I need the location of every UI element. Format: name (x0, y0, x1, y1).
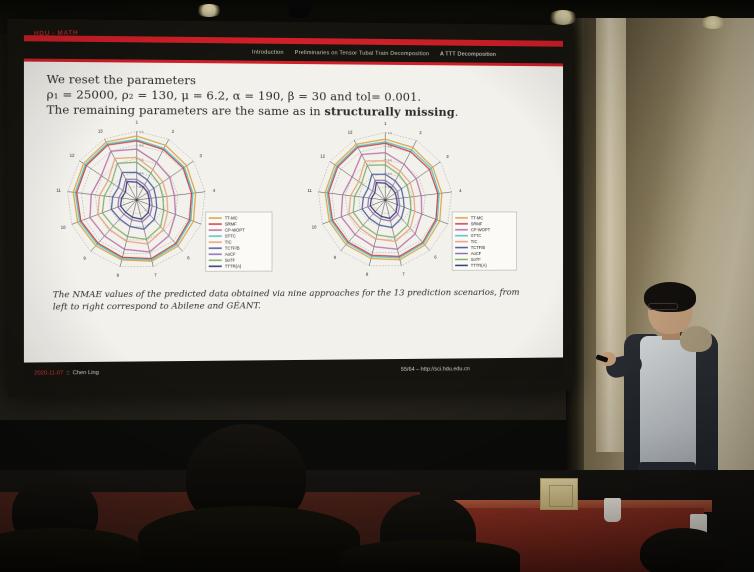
audience-shoulders (340, 540, 520, 572)
audience-shoulders (138, 506, 360, 572)
svg-text:STTC: STTC (225, 234, 236, 239)
svg-text:11: 11 (56, 188, 61, 193)
slide-content: We reset the parameters ρ₁ = 25000, ρ₂ =… (24, 62, 563, 363)
glasses-icon (648, 303, 678, 310)
slide-paragraph: We reset the parameters ρ₁ = 25000, ρ₂ =… (47, 72, 542, 121)
svg-text:CP-WOPT: CP-WOPT (471, 227, 491, 232)
paper-cup (604, 498, 621, 522)
slide-line-3-suffix: . (455, 105, 459, 119)
svg-text:TT-MC: TT-MC (471, 216, 483, 221)
svg-text:11: 11 (308, 188, 313, 193)
ceiling-beam (0, 0, 754, 18)
ceiling-light (196, 4, 222, 17)
svg-text:AoCF: AoCF (471, 251, 482, 256)
svg-text:7: 7 (402, 272, 405, 277)
svg-text:TIC: TIC (225, 240, 232, 245)
svg-text:8: 8 (117, 273, 120, 278)
figure-caption: The NMAE values of the predicted data ob… (53, 287, 526, 315)
svg-text:TT-MC: TT-MC (225, 216, 238, 221)
nav-item-introduction[interactable]: Introduction (252, 49, 284, 55)
audience-shoulders (0, 528, 142, 572)
lecture-hall-scene: Introduction Preliminaries on Tensor Tub… (0, 0, 754, 572)
slide-surface: Introduction Preliminaries on Tensor Tub… (24, 35, 563, 385)
svg-text:TCTF/B: TCTF/B (471, 245, 485, 250)
svg-text:TTTR(A): TTTR(A) (225, 264, 242, 269)
footer-date: 2020-11-07 (34, 370, 63, 376)
ceiling-light (700, 16, 726, 29)
svg-text:1.0: 1.0 (388, 131, 392, 135)
svg-text:TIC: TIC (471, 239, 478, 244)
svg-text:CP-WOPT: CP-WOPT (225, 228, 245, 233)
svg-text:4: 4 (459, 188, 462, 193)
svg-text:SRMF: SRMF (471, 222, 483, 227)
svg-text:0.4: 0.4 (388, 172, 392, 176)
presenter-hood (680, 326, 712, 352)
svg-text:9: 9 (334, 255, 337, 260)
ceiling-camera-icon (289, 2, 311, 18)
svg-text:3: 3 (200, 153, 203, 158)
svg-text:STTC: STTC (471, 233, 482, 238)
svg-text:12: 12 (320, 154, 325, 159)
svg-text:6: 6 (187, 255, 190, 260)
radar-chart-geant: 0.20.40.60.81.012345678910111213TT-MCSRM… (294, 120, 528, 280)
slide-footer: 2020-11-07 :: Chen Ling 55/64 – http://s… (24, 357, 563, 384)
radar-charts-row: 0.20.40.60.81.012345678910111213TT-MCSRM… (42, 119, 528, 282)
svg-text:1.0: 1.0 (139, 130, 143, 134)
ceiling-light (548, 10, 578, 25)
nav-item-ttt-decomposition[interactable]: A TTT Decomposition (440, 51, 496, 57)
presenter-shirt (640, 336, 696, 468)
footer-left-group: 2020-11-07 :: Chen Ling (24, 370, 99, 377)
projection-screen: Introduction Preliminaries on Tensor Tub… (7, 19, 572, 398)
slide-line-3-prefix: The remaining parameters are the same as… (47, 103, 325, 119)
svg-text:12: 12 (70, 153, 75, 158)
nav-item-preliminaries[interactable]: Preliminaries on Tensor Tubal Train Deco… (295, 49, 430, 56)
svg-text:3: 3 (446, 154, 449, 159)
svg-text:4: 4 (213, 188, 216, 193)
svg-text:1: 1 (384, 121, 387, 126)
svg-text:7: 7 (154, 273, 157, 278)
footer-separator: :: (66, 370, 69, 376)
svg-text:SRMF: SRMF (225, 222, 237, 227)
radar-svg-geant: 0.20.40.60.81.012345678910111213TT-MCSRM… (294, 120, 528, 280)
svg-text:6: 6 (434, 255, 437, 260)
svg-text:0.6: 0.6 (388, 158, 392, 162)
svg-text:1: 1 (136, 120, 139, 125)
svg-text:9: 9 (83, 256, 86, 261)
svg-text:SoTF: SoTF (471, 257, 481, 262)
footer-page-and-url: 55/64 – http://sci.hdu.edu.cn (401, 365, 563, 373)
hdu-math-logo: HDU - MATH (34, 30, 78, 38)
svg-text:2: 2 (172, 129, 175, 134)
svg-text:TTTR(A): TTTR(A) (471, 263, 487, 268)
footer-author: Chen Ling (73, 370, 99, 376)
svg-text:13: 13 (98, 128, 103, 133)
svg-text:10: 10 (61, 225, 66, 230)
slide-line-3-emphasis: structurally missing (324, 105, 454, 120)
svg-text:8: 8 (366, 272, 369, 277)
audience-head (640, 528, 726, 572)
svg-text:TCTF/B: TCTF/B (225, 246, 240, 251)
svg-text:2: 2 (419, 130, 422, 135)
svg-text:0.8: 0.8 (139, 144, 143, 148)
radar-svg-abilene: 0.20.40.60.81.012345678910111213TT-MCSRM… (42, 119, 284, 282)
svg-text:AoCF: AoCF (225, 252, 236, 257)
svg-text:13: 13 (348, 130, 353, 135)
svg-text:SoTF: SoTF (225, 258, 236, 263)
svg-text:10: 10 (312, 225, 317, 230)
tissue-box (540, 478, 578, 510)
radar-chart-abilene: 0.20.40.60.81.012345678910111213TT-MCSRM… (42, 119, 284, 282)
